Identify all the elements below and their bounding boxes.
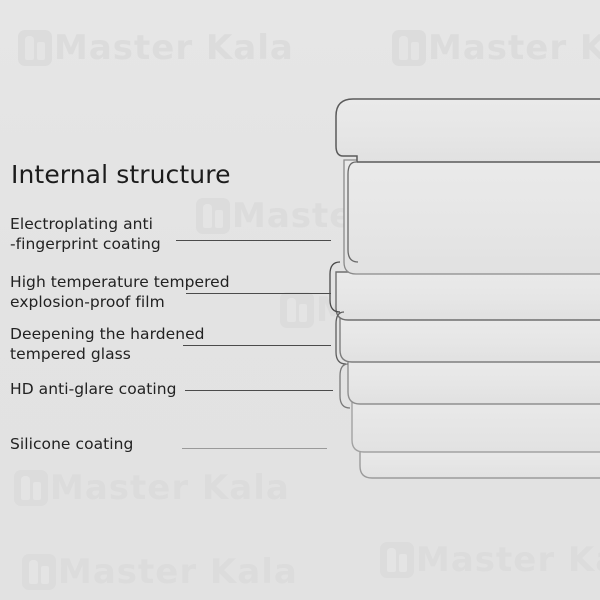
label-deepening-the-hardened-tempered-glass: Deepening the hardened tempered glass <box>10 324 205 364</box>
page-title: Internal structure <box>11 160 231 189</box>
layer-hardened-glass-inner <box>348 360 600 404</box>
watermark-label: Master Kala <box>58 552 298 592</box>
diagram-canvas: Master Kala Master Kala Master Kala Mast… <box>0 0 600 600</box>
brand-logo-icon <box>18 30 52 66</box>
watermark-label: Master Kala <box>232 196 472 236</box>
brand-logo-icon <box>380 542 414 578</box>
brand-logo-icon <box>14 470 48 506</box>
watermark-master-kala: Master Kala <box>280 290 556 330</box>
layer-explosion-proof-film <box>336 272 600 320</box>
watermark-master-kala: Master Kala <box>196 196 472 236</box>
label-electroplating-anti-fingerprint-coating: Electroplating anti -fingerprint coating <box>10 214 161 254</box>
leader-line-silicone <box>182 448 327 449</box>
watermark-master-kala: Master Kala <box>14 468 290 508</box>
watermark-label: Master Kala <box>428 28 600 68</box>
brand-logo-icon <box>196 198 230 234</box>
watermark-label: Master Kala <box>416 540 600 580</box>
layer-deepening-tempered-glass <box>340 318 600 362</box>
brand-logo-icon <box>22 554 56 590</box>
leader-line-hardened-glass <box>183 345 331 346</box>
layer-edge-accents <box>330 162 358 408</box>
watermark-master-kala: Master Kala <box>392 28 600 68</box>
watermark-label: Master Kala <box>316 290 556 330</box>
brand-logo-icon <box>280 292 314 328</box>
layer-hd-anti-glare-coating <box>352 402 600 452</box>
watermark-label: Master Kala <box>54 28 294 68</box>
layer-silicone-coating <box>360 451 600 478</box>
label-hd-anti-glare-coating: HD anti-glare coating <box>10 379 177 399</box>
label-silicone-coating: Silicone coating <box>10 434 133 454</box>
watermark-master-kala: Master Kala <box>22 552 298 592</box>
leader-line-anti-glare <box>185 390 333 391</box>
watermark-label: Master Kala <box>50 468 290 508</box>
watermark-master-kala: Master Kala <box>18 28 294 68</box>
watermark-master-kala: Master Kala <box>380 540 600 580</box>
layer-high-temperature-tempered <box>344 160 600 274</box>
layer-electroplating-anti-fingerprint <box>336 99 600 162</box>
leader-line-electroplating <box>176 240 331 241</box>
label-high-temperature-tempered-explosion-proof-film: High temperature tempered explosion-proo… <box>10 272 230 312</box>
brand-logo-icon <box>392 30 426 66</box>
